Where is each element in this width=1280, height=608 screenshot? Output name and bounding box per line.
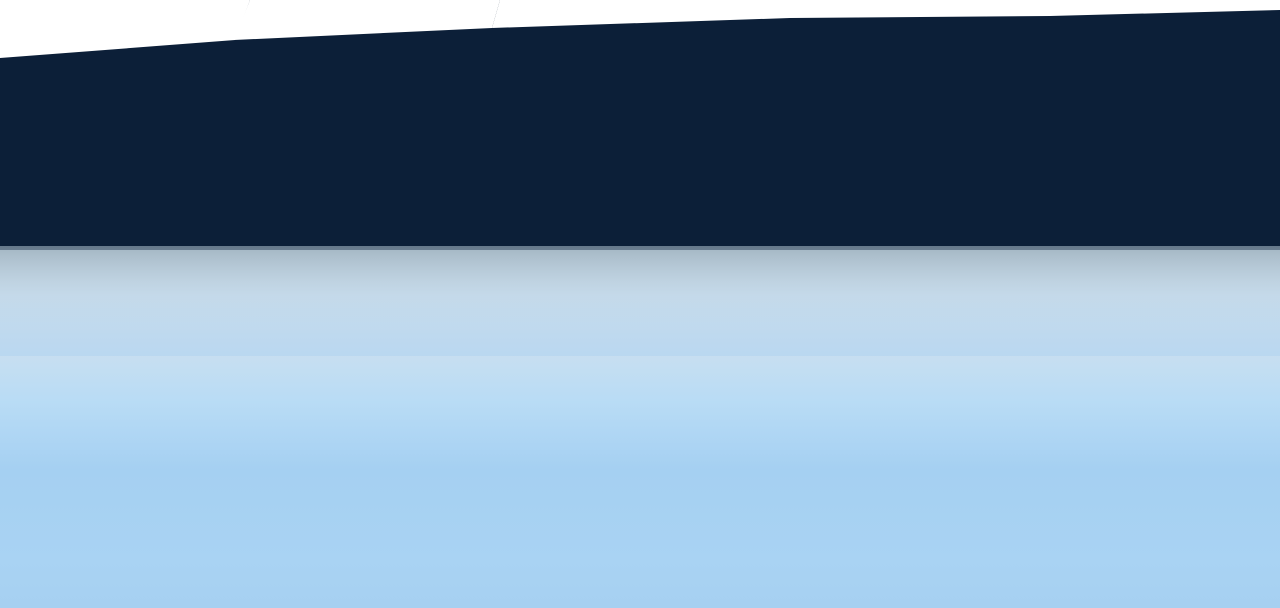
feature-columns [0,270,1280,608]
slide-root [0,0,1280,608]
perspective-wedges [0,0,1280,252]
